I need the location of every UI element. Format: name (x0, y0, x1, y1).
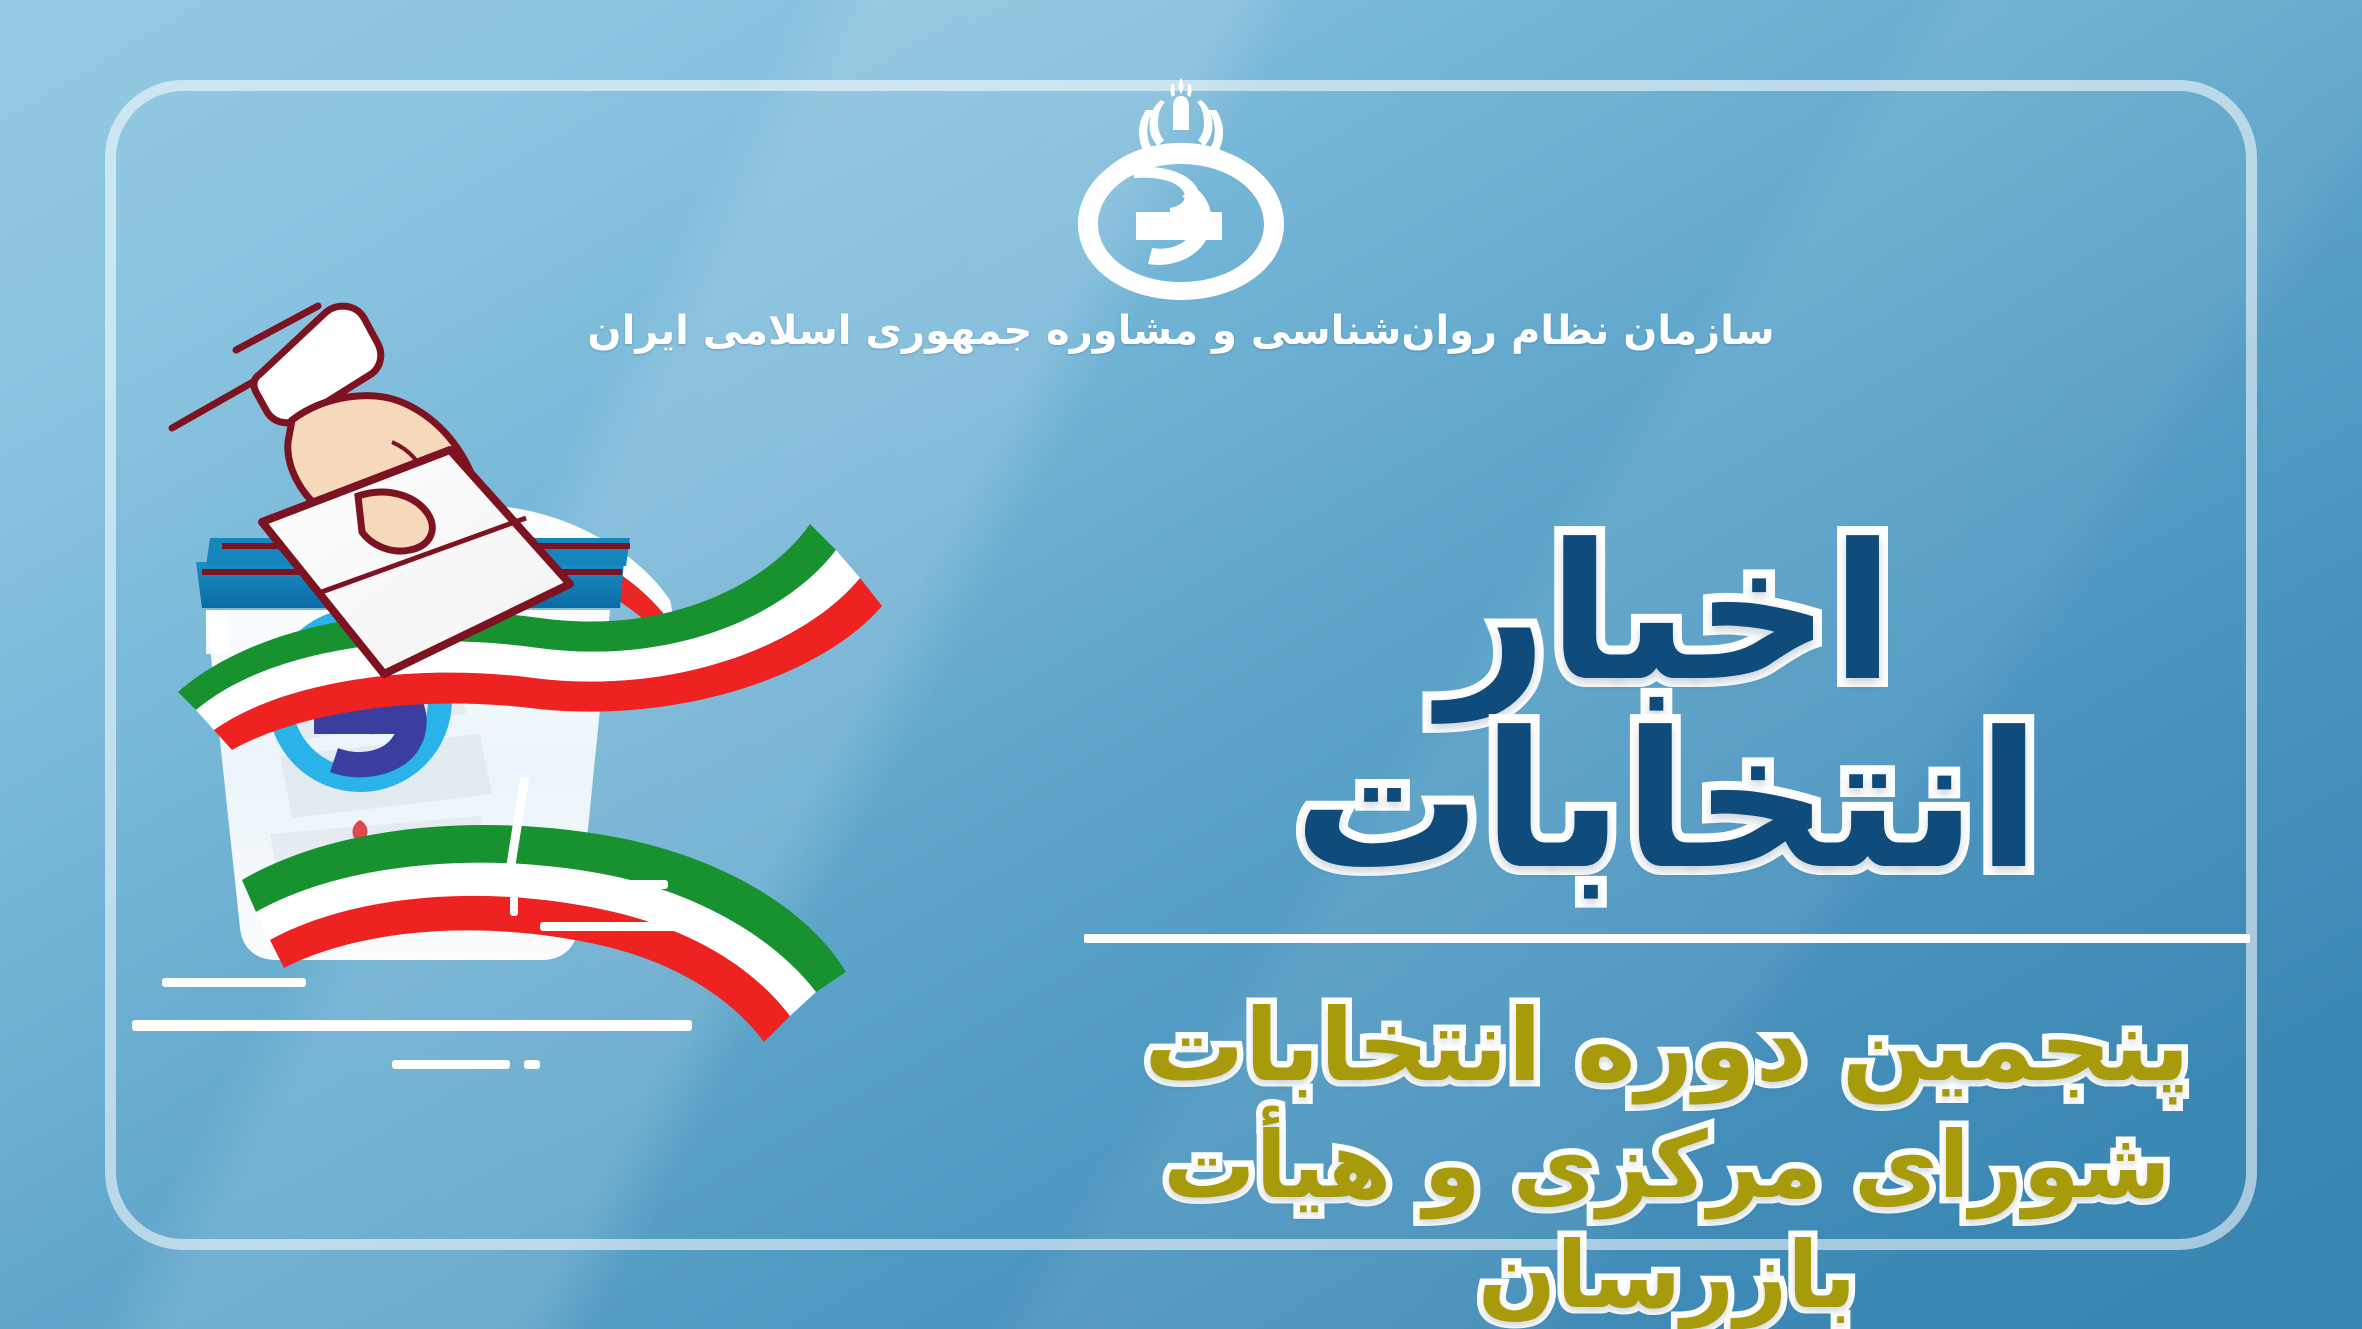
speed-line-3 (392, 1060, 510, 1069)
title-divider (1084, 934, 2250, 943)
headline-column: اخبار انتخابات پنجمین دوره انتخابات شورا… (1072, 520, 2262, 1329)
organization-symbol-glyph (1134, 167, 1222, 265)
speed-line-5 (526, 880, 668, 889)
subtitle-line-2: شورای مرکزی و هیأت بازرسان (1072, 1111, 2262, 1329)
speed-line-1 (162, 978, 306, 987)
organization-emblem (1056, 72, 1306, 302)
ballot-illustration (110, 300, 950, 1100)
subtitle-line-1: پنجمین دوره انتخابات (1072, 987, 2262, 1105)
speed-line-9 (510, 896, 518, 916)
page-title: اخبار انتخابات (1072, 520, 2262, 896)
speed-line-4 (524, 1060, 540, 1069)
poster-canvas: سازمان نظام روان‌شناسی و مشاوره جمهوری ا… (0, 0, 2362, 1329)
speed-line-2 (132, 1020, 692, 1031)
speed-line-6 (540, 922, 710, 931)
